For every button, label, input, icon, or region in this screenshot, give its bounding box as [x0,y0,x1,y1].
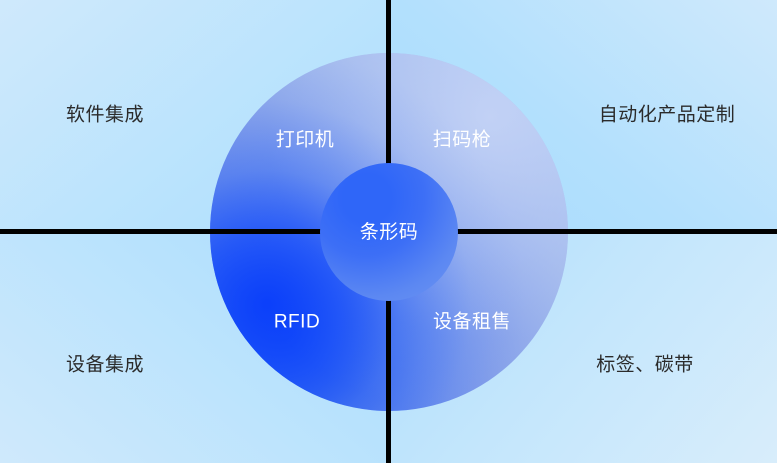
corner-label-automation-customizing[interactable]: 自动化产品定制 [599,106,736,125]
corner-label-labels-ribbons[interactable]: 标签、碳带 [596,356,694,375]
segment-label-equipment-rental[interactable]: 设备租售 [433,313,511,332]
center-label-barcode: 条形码 [360,223,419,242]
diagram-canvas: 打印机 扫码枪 RFID 设备租售 条形码 软件集成 自动化产品定制 设备集成 … [0,0,777,463]
corner-label-device-integration[interactable]: 设备集成 [66,356,144,375]
segment-label-scanner[interactable]: 扫码枪 [433,131,492,150]
center-circle[interactable]: 条形码 [320,163,458,301]
corner-label-software-integration[interactable]: 软件集成 [66,106,144,125]
segment-label-rfid[interactable]: RFID [274,313,320,332]
segment-label-printer[interactable]: 打印机 [276,131,335,150]
